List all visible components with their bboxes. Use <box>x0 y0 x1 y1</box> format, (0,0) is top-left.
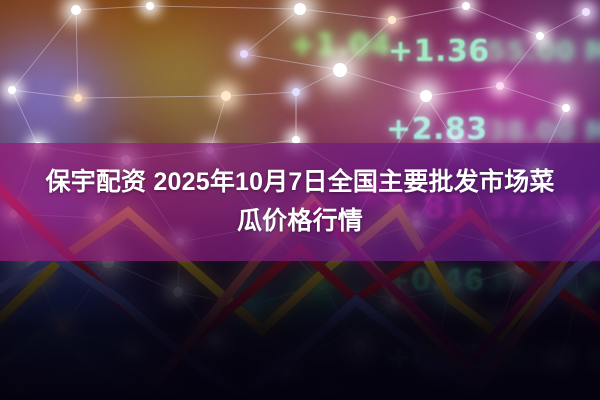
banner-image: +1.04+1.3655.00 M+2.8338.00 M8.8137.58 M… <box>0 0 600 400</box>
title-line-2: 瓜价格行情 <box>237 205 363 238</box>
title-line-1: 保宇配资 2025年10月7日全国主要批发市场菜 <box>45 166 554 199</box>
banner-title: 保宇配资 2025年10月7日全国主要批发市场菜 瓜价格行情 <box>0 143 600 261</box>
